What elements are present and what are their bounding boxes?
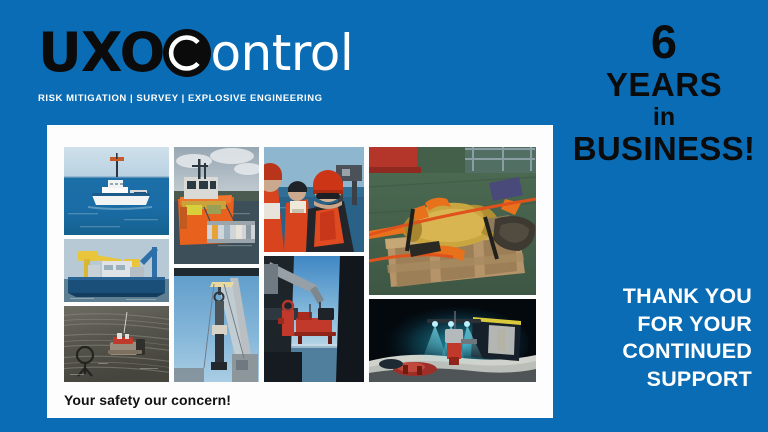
thank-you-line-3: CONTINUED xyxy=(522,338,752,366)
thank-you-line-2: FOR YOUR xyxy=(522,311,752,339)
company-logo: UXO ontrol xyxy=(38,24,368,82)
photo-crane-aframe xyxy=(174,268,259,382)
thank-you-line-4: SUPPORT xyxy=(522,366,752,394)
anniversary-number: 6 xyxy=(560,18,768,66)
anniversary-business: BUSINESS! xyxy=(560,132,768,166)
thank-you-block: THANK YOU FOR YOUR CONTINUED SUPPORT xyxy=(522,283,752,393)
logo-text-control: ontrol xyxy=(210,28,353,78)
photo-workboat-deployment xyxy=(174,147,259,264)
anniversary-connector: in xyxy=(560,105,768,131)
photo-rov-lift xyxy=(264,256,364,382)
photo-underwater-rov-scene xyxy=(369,299,536,382)
photo-survey-vessel xyxy=(64,147,169,235)
logo-c-circle-icon xyxy=(162,28,212,78)
brand-tagline: RISK MITIGATION | SURVEY | EXPLOSIVE ENG… xyxy=(38,93,368,104)
photo-collage xyxy=(64,147,536,382)
slide-canvas: UXO ontrol RISK MITIGATION | SURVEY | EX… xyxy=(0,0,768,432)
logo-text-uxo: UXO xyxy=(38,26,164,80)
photo-recovered-uxo xyxy=(369,147,536,295)
anniversary-block: 6 YEARS in BUSINESS! xyxy=(560,18,768,166)
photo-seabed-rov xyxy=(64,306,169,382)
photo-construction-vessel xyxy=(64,239,169,302)
brand-block: UXO ontrol RISK MITIGATION | SURVEY | EX… xyxy=(38,24,368,104)
card-caption: Your safety our concern! xyxy=(64,392,231,408)
photo-collage-card: Your safety our concern! xyxy=(47,125,553,418)
thank-you-line-1: THANK YOU xyxy=(522,283,752,311)
anniversary-years: YEARS xyxy=(560,68,768,102)
photo-crew-survival-suits xyxy=(264,147,364,252)
